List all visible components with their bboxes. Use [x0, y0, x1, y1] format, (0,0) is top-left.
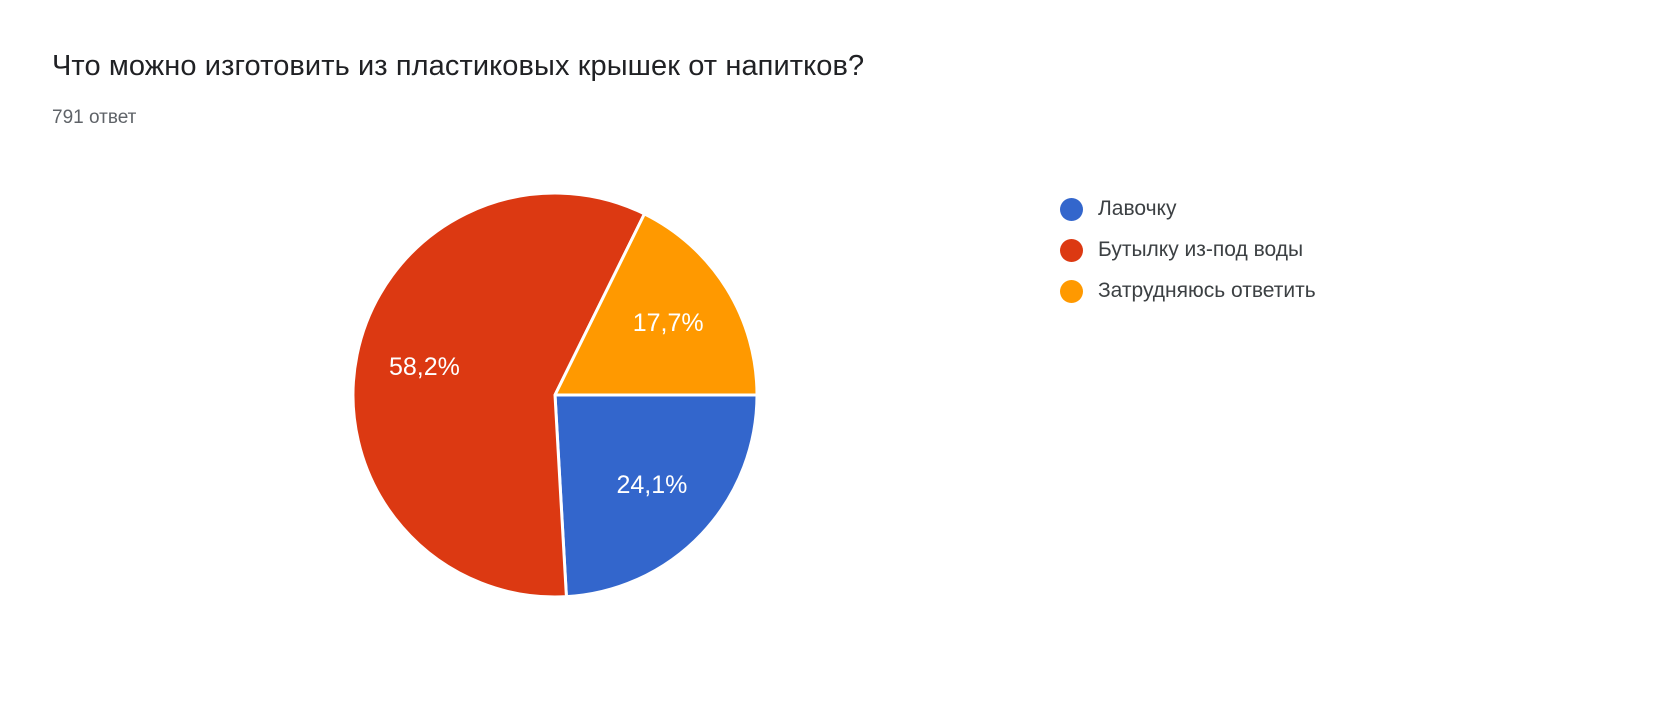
legend-swatch-icon-0	[1060, 198, 1083, 221]
pie-slice-value-label-0: 24,1%	[616, 471, 687, 499]
pie-slice-value-label-1: 58,2%	[389, 353, 460, 381]
plot-area: 24,1%58,2%17,7% Лавочку Бутылку из-под в…	[0, 150, 1680, 670]
legend-swatch-icon-2	[1060, 280, 1083, 303]
pie-chart-card: Что можно изготовить из пластиковых крыш…	[0, 0, 1680, 706]
pie-chart: 24,1%58,2%17,7%	[330, 180, 790, 610]
legend-item-1[interactable]: Бутылку из-под воды	[1060, 239, 1316, 261]
chart-legend: Лавочку Бутылку из-под воды Затрудняюсь …	[1060, 198, 1316, 302]
pie-slice-group	[353, 193, 757, 597]
legend-label-0: Лавочку	[1098, 197, 1176, 221]
page-title: Что можно изготовить из пластиковых крыш…	[52, 48, 864, 84]
pie-slice-value-label-2: 17,7%	[633, 309, 704, 337]
legend-label-1: Бутылку из-под воды	[1098, 238, 1303, 262]
response-count-label: 791 ответ	[52, 106, 136, 130]
legend-item-2[interactable]: Затрудняюсь ответить	[1060, 280, 1316, 302]
legend-label-2: Затрудняюсь ответить	[1098, 279, 1316, 303]
legend-item-0[interactable]: Лавочку	[1060, 198, 1316, 220]
legend-swatch-icon-1	[1060, 239, 1083, 262]
